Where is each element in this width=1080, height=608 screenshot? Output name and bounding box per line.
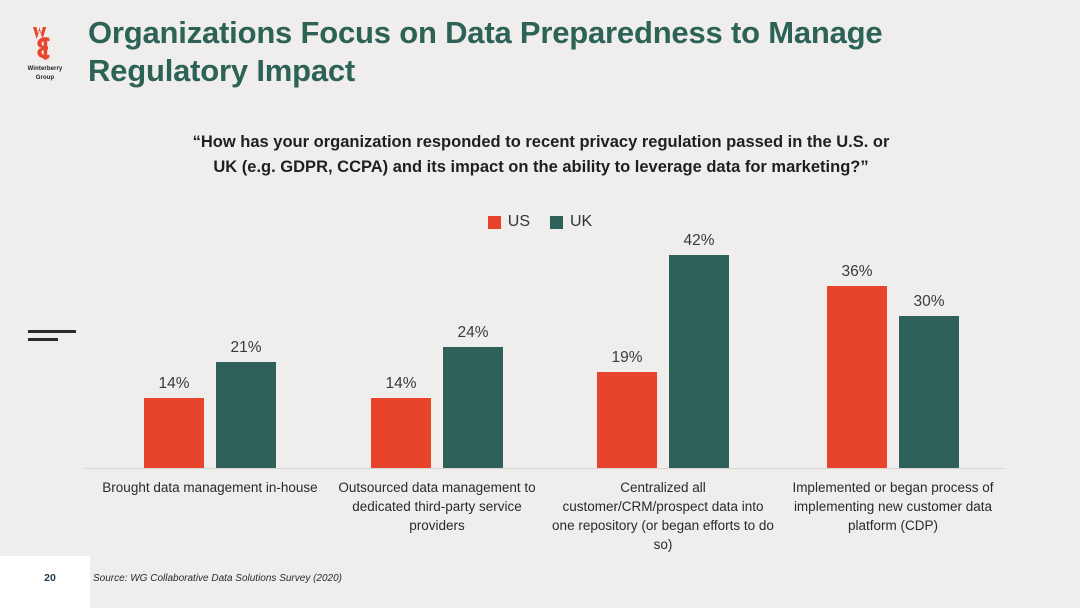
legend-swatch-us (488, 216, 501, 229)
bar-uk-1[interactable]: 21% (216, 230, 276, 469)
bar-rect (597, 372, 657, 469)
bar-rect (371, 398, 431, 469)
legend-label-uk: UK (570, 213, 592, 231)
x-axis-label-2: Outsourced data management to dedicated … (326, 478, 548, 535)
legend-swatch-uk (550, 216, 563, 229)
page-title: Organizations Focus on Data Preparedness… (88, 14, 988, 90)
bar-us-2[interactable]: 14% (371, 230, 431, 469)
bar-value-label: 42% (683, 232, 714, 250)
x-axis-label-4: Implemented or began process of implemen… (782, 478, 1004, 535)
bar-rect (669, 255, 729, 469)
chart-title: “How has your organization responded to … (180, 130, 902, 179)
logo-brand-line1: Winterberry (16, 66, 74, 73)
chart-plot-area: 14%21%14%24%19%42%36%30% (85, 230, 1005, 469)
bar-uk-4[interactable]: 30% (899, 230, 959, 469)
slide-canvas: Winterberry Group Organizations Focus on… (0, 0, 1080, 608)
x-axis-label-1: Brought data management in-house (99, 478, 321, 497)
bar-group: 14%24% (371, 230, 503, 469)
bar-value-label: 19% (611, 349, 642, 367)
bar-us-1[interactable]: 14% (144, 230, 204, 469)
winterberry-group-logo: Winterberry Group (16, 22, 74, 84)
bar-us-4[interactable]: 36% (827, 230, 887, 469)
bar-group: 36%30% (827, 230, 959, 469)
legend-item-us[interactable]: US (488, 213, 530, 231)
legend-label-us: US (508, 213, 530, 231)
bar-value-label: 21% (230, 339, 261, 357)
wg-monogram-icon (25, 22, 65, 64)
chart-legend: USUK (0, 213, 1080, 231)
bar-uk-2[interactable]: 24% (443, 230, 503, 469)
page-number: 20 (30, 572, 70, 584)
bar-uk-3[interactable]: 42% (669, 230, 729, 469)
bar-rect (216, 362, 276, 469)
bar-value-label: 14% (158, 375, 189, 393)
x-axis-label-3: Centralized all customer/CRM/prospect da… (552, 478, 774, 554)
bar-value-label: 14% (385, 375, 416, 393)
bar-us-3[interactable]: 19% (597, 230, 657, 469)
bar-rect (443, 347, 503, 469)
bar-value-label: 36% (841, 263, 872, 281)
decorative-rule-line-short (28, 338, 58, 341)
bar-value-label: 24% (457, 324, 488, 342)
bar-rect (899, 316, 959, 469)
source-note: Source: WG Collaborative Data Solutions … (93, 573, 342, 584)
bar-rect (827, 286, 887, 469)
bar-group: 14%21% (144, 230, 276, 469)
x-axis-line (85, 468, 1005, 469)
decorative-rule (28, 327, 86, 347)
legend-item-uk[interactable]: UK (550, 213, 592, 231)
bar-rect (144, 398, 204, 469)
bar-value-label: 30% (913, 293, 944, 311)
x-axis-category-labels: Brought data management in-houseOutsourc… (85, 478, 1005, 553)
decorative-rule-line-long (28, 330, 76, 333)
bar-group: 19%42% (597, 230, 729, 469)
logo-brand-line2: Group (16, 75, 74, 82)
